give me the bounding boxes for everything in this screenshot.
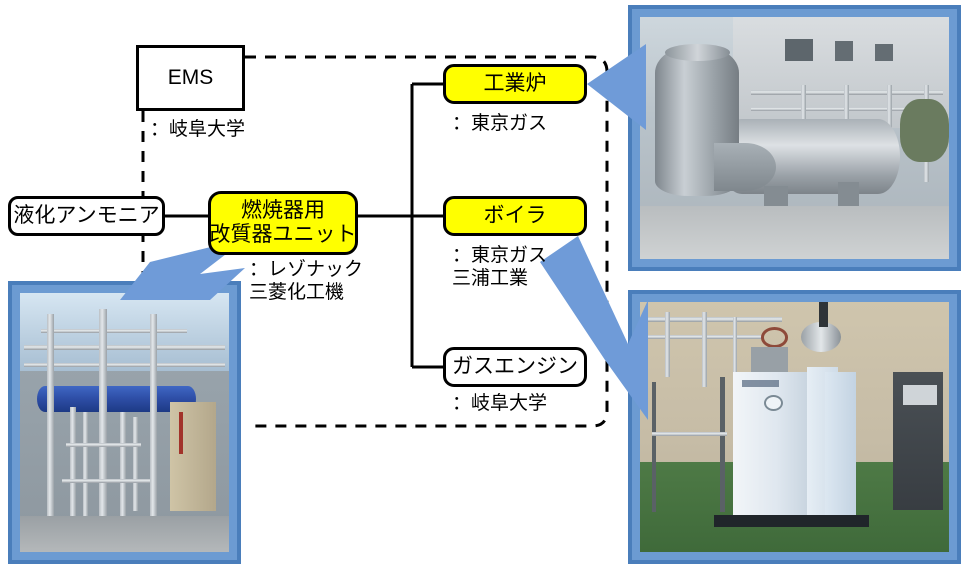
node-reformer-label-line2: 改質器ユニット [210,223,357,247]
caption-engine: ：岐阜大学 [452,392,547,415]
caption-furnace-text: ：東京ガス [452,112,547,135]
node-liquefied-ammonia[interactable]: 液化アンモニア [8,196,165,236]
caption-reformer-line2: 三菱化工機 [249,281,363,304]
node-ems-label: EMS [168,66,214,90]
callout-arrow-boiler [540,236,648,420]
caption-ems-text: ：岐阜大学 [150,118,245,141]
node-ems[interactable]: EMS [136,45,245,111]
node-boiler[interactable]: ボイラ [443,196,587,236]
node-ammonia-label: 液化アンモニア [13,204,159,228]
node-industrial-furnace[interactable]: 工業炉 [443,64,587,104]
caption-boiler-line1: ：東京ガス [452,244,547,267]
caption-boiler-line2: 三浦工業 [452,267,547,290]
caption-reformer-line1: ：レゾナック [249,258,363,281]
caption-furnace: ：東京ガス [452,112,547,135]
caption-boiler: ：東京ガス 三浦工業 [452,244,547,290]
node-engine-label: ガスエンジン [452,355,578,379]
diagram-canvas: EMS 液化アンモニア 燃焼器用 改質器ユニット 工業炉 ボイラ ガスエンジン … [0,0,965,569]
node-reformer-unit[interactable]: 燃焼器用 改質器ユニット [208,191,358,255]
node-furnace-label: 工業炉 [484,72,547,96]
node-reformer-label-line1: 燃焼器用 [241,199,325,223]
callout-arrow-furnace [587,44,646,130]
node-gas-engine[interactable]: ガスエンジン [443,347,587,387]
caption-ems: ：岐阜大学 [150,118,245,141]
caption-engine-text: ：岐阜大学 [452,392,547,415]
node-boiler-label: ボイラ [484,204,547,228]
caption-reformer: ：レゾナック 三菱化工機 [249,258,363,304]
